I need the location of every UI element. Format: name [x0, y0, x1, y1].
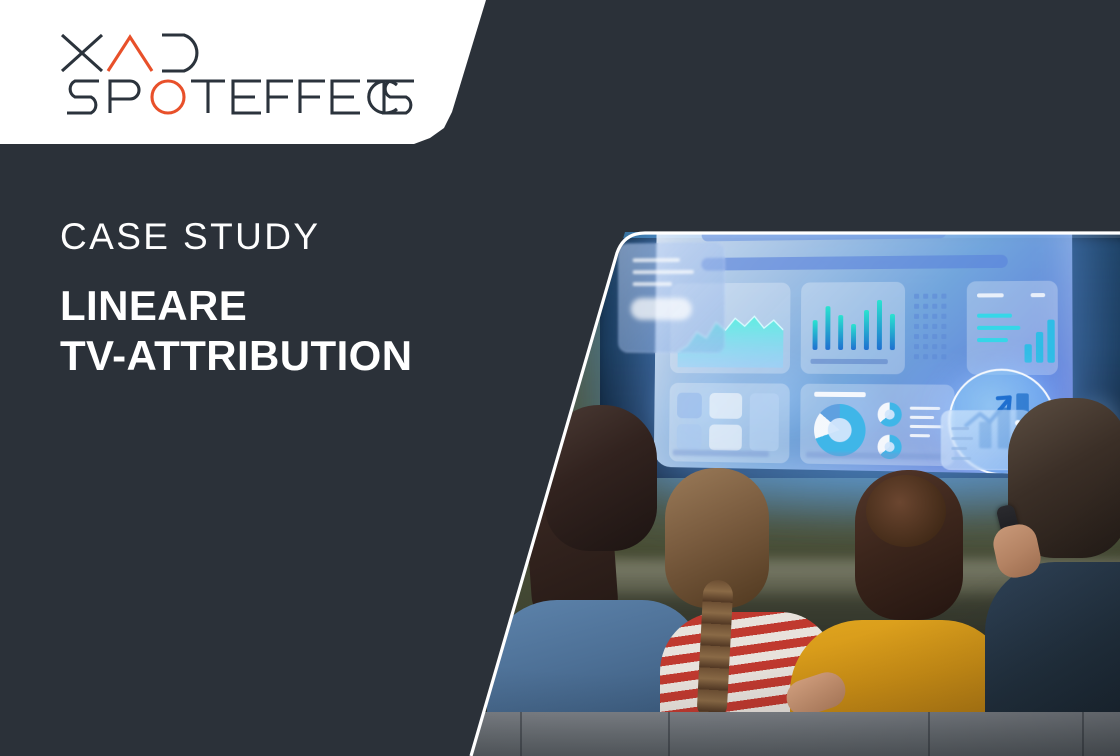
kicker-label: CASE STUDY — [60, 218, 412, 255]
case-study-cover-slide: CASE STUDY LINEARE TV-ATTRIBUTION — [0, 0, 1120, 756]
logo-wrap[interactable] — [58, 31, 418, 115]
sofa-backrest — [462, 712, 1120, 756]
headline: LINEARE TV-ATTRIBUTION — [60, 281, 412, 382]
floating-pie-card — [677, 104, 816, 187]
pie-chart-icon — [720, 120, 764, 176]
title-block: CASE STUDY LINEARE TV-ATTRIBUTION — [60, 218, 412, 382]
logo-panel — [0, 0, 486, 144]
floating-line-chart-card — [873, 168, 967, 231]
headline-line-1: LINEARE — [60, 281, 412, 331]
xad-spoteffects-logo[interactable] — [58, 31, 418, 115]
headline-line-2: TV-ATTRIBUTION — [60, 331, 412, 381]
